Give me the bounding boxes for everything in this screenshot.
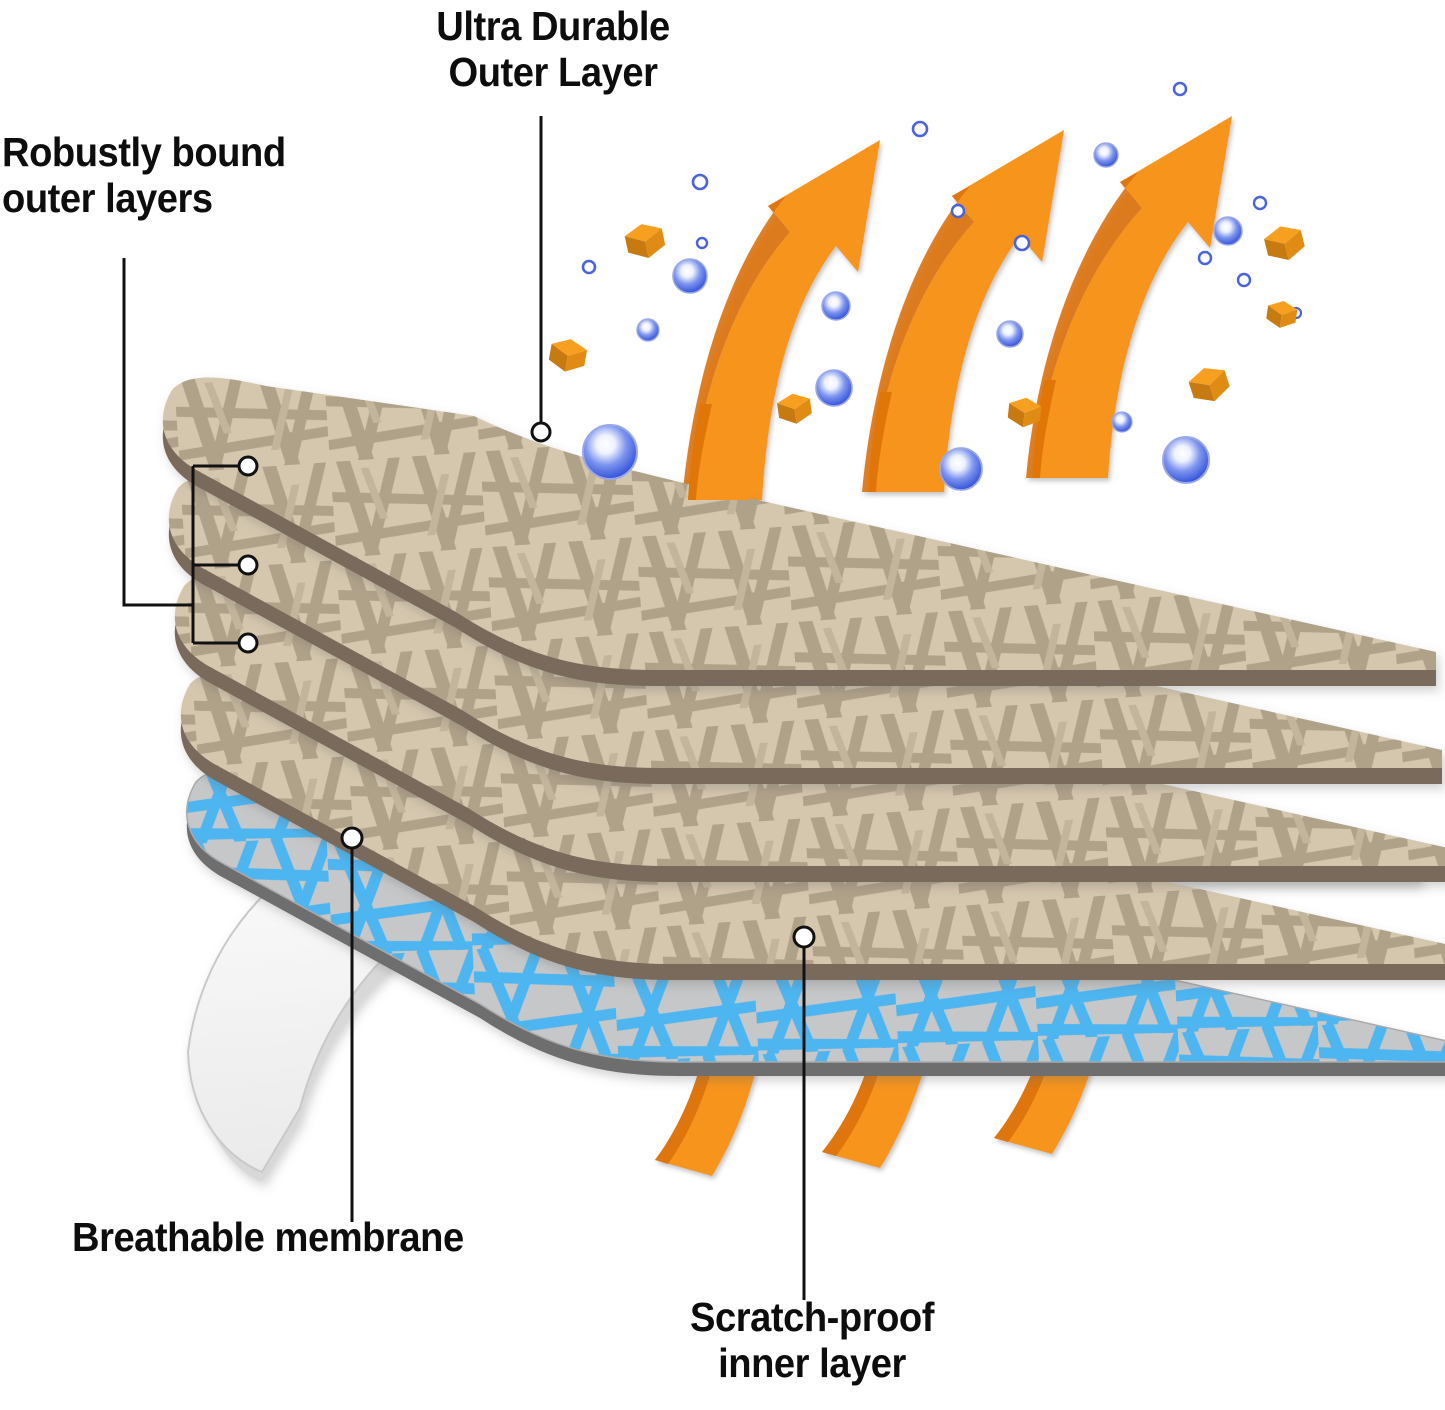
callout-bound-dot-1 [239, 457, 257, 475]
dirt-cube [623, 220, 667, 262]
callout-outer-layer-dot [532, 423, 550, 441]
droplet-ring [1199, 252, 1211, 264]
droplet-large [940, 448, 982, 490]
label-robustly-bound-outer-layers: Robustly bound outer layers [2, 130, 383, 222]
callout-bound-dot-3 [239, 634, 257, 652]
diagram-canvas: Ultra Durable Outer Layer Robustly bound… [0, 0, 1445, 1410]
callout-membrane-dot [342, 828, 362, 848]
droplet-medium [997, 321, 1023, 347]
droplet-large [583, 425, 637, 479]
droplet-ring [952, 205, 964, 217]
droplet-ring [913, 122, 927, 136]
droplet-ring [1015, 236, 1029, 250]
label-ultra-durable-outer-layer: Ultra Durable Outer Layer [386, 4, 721, 96]
dirt-cube [547, 336, 588, 375]
upward-vapour-arrows [682, 116, 1232, 500]
droplet-medium [822, 292, 850, 320]
droplet-ring [693, 175, 707, 189]
droplet-ring [1174, 83, 1186, 95]
callout-bound-dot-2 [239, 556, 257, 574]
label-scratch-proof-inner-layer: Scratch-proof inner layer [626, 1295, 998, 1387]
droplet-large [673, 259, 707, 293]
droplet-ring [1238, 274, 1250, 286]
droplet-ring [697, 238, 707, 248]
dirt-cube [1265, 299, 1298, 330]
droplet-ring [583, 261, 595, 273]
droplet-medium [1214, 217, 1242, 245]
droplet-ring [1254, 197, 1266, 209]
label-breathable-membrane: Breathable membrane [72, 1215, 630, 1261]
dirt-cube [1262, 222, 1307, 265]
droplet-large [1163, 437, 1209, 483]
droplet-medium [1094, 143, 1118, 167]
droplet-medium [637, 319, 659, 341]
dirt-cube [776, 391, 813, 426]
droplet-large [816, 370, 852, 406]
droplet-small [1112, 412, 1132, 432]
callout-scratch-proof-dot [794, 927, 814, 947]
dirt-cube [1186, 362, 1233, 407]
